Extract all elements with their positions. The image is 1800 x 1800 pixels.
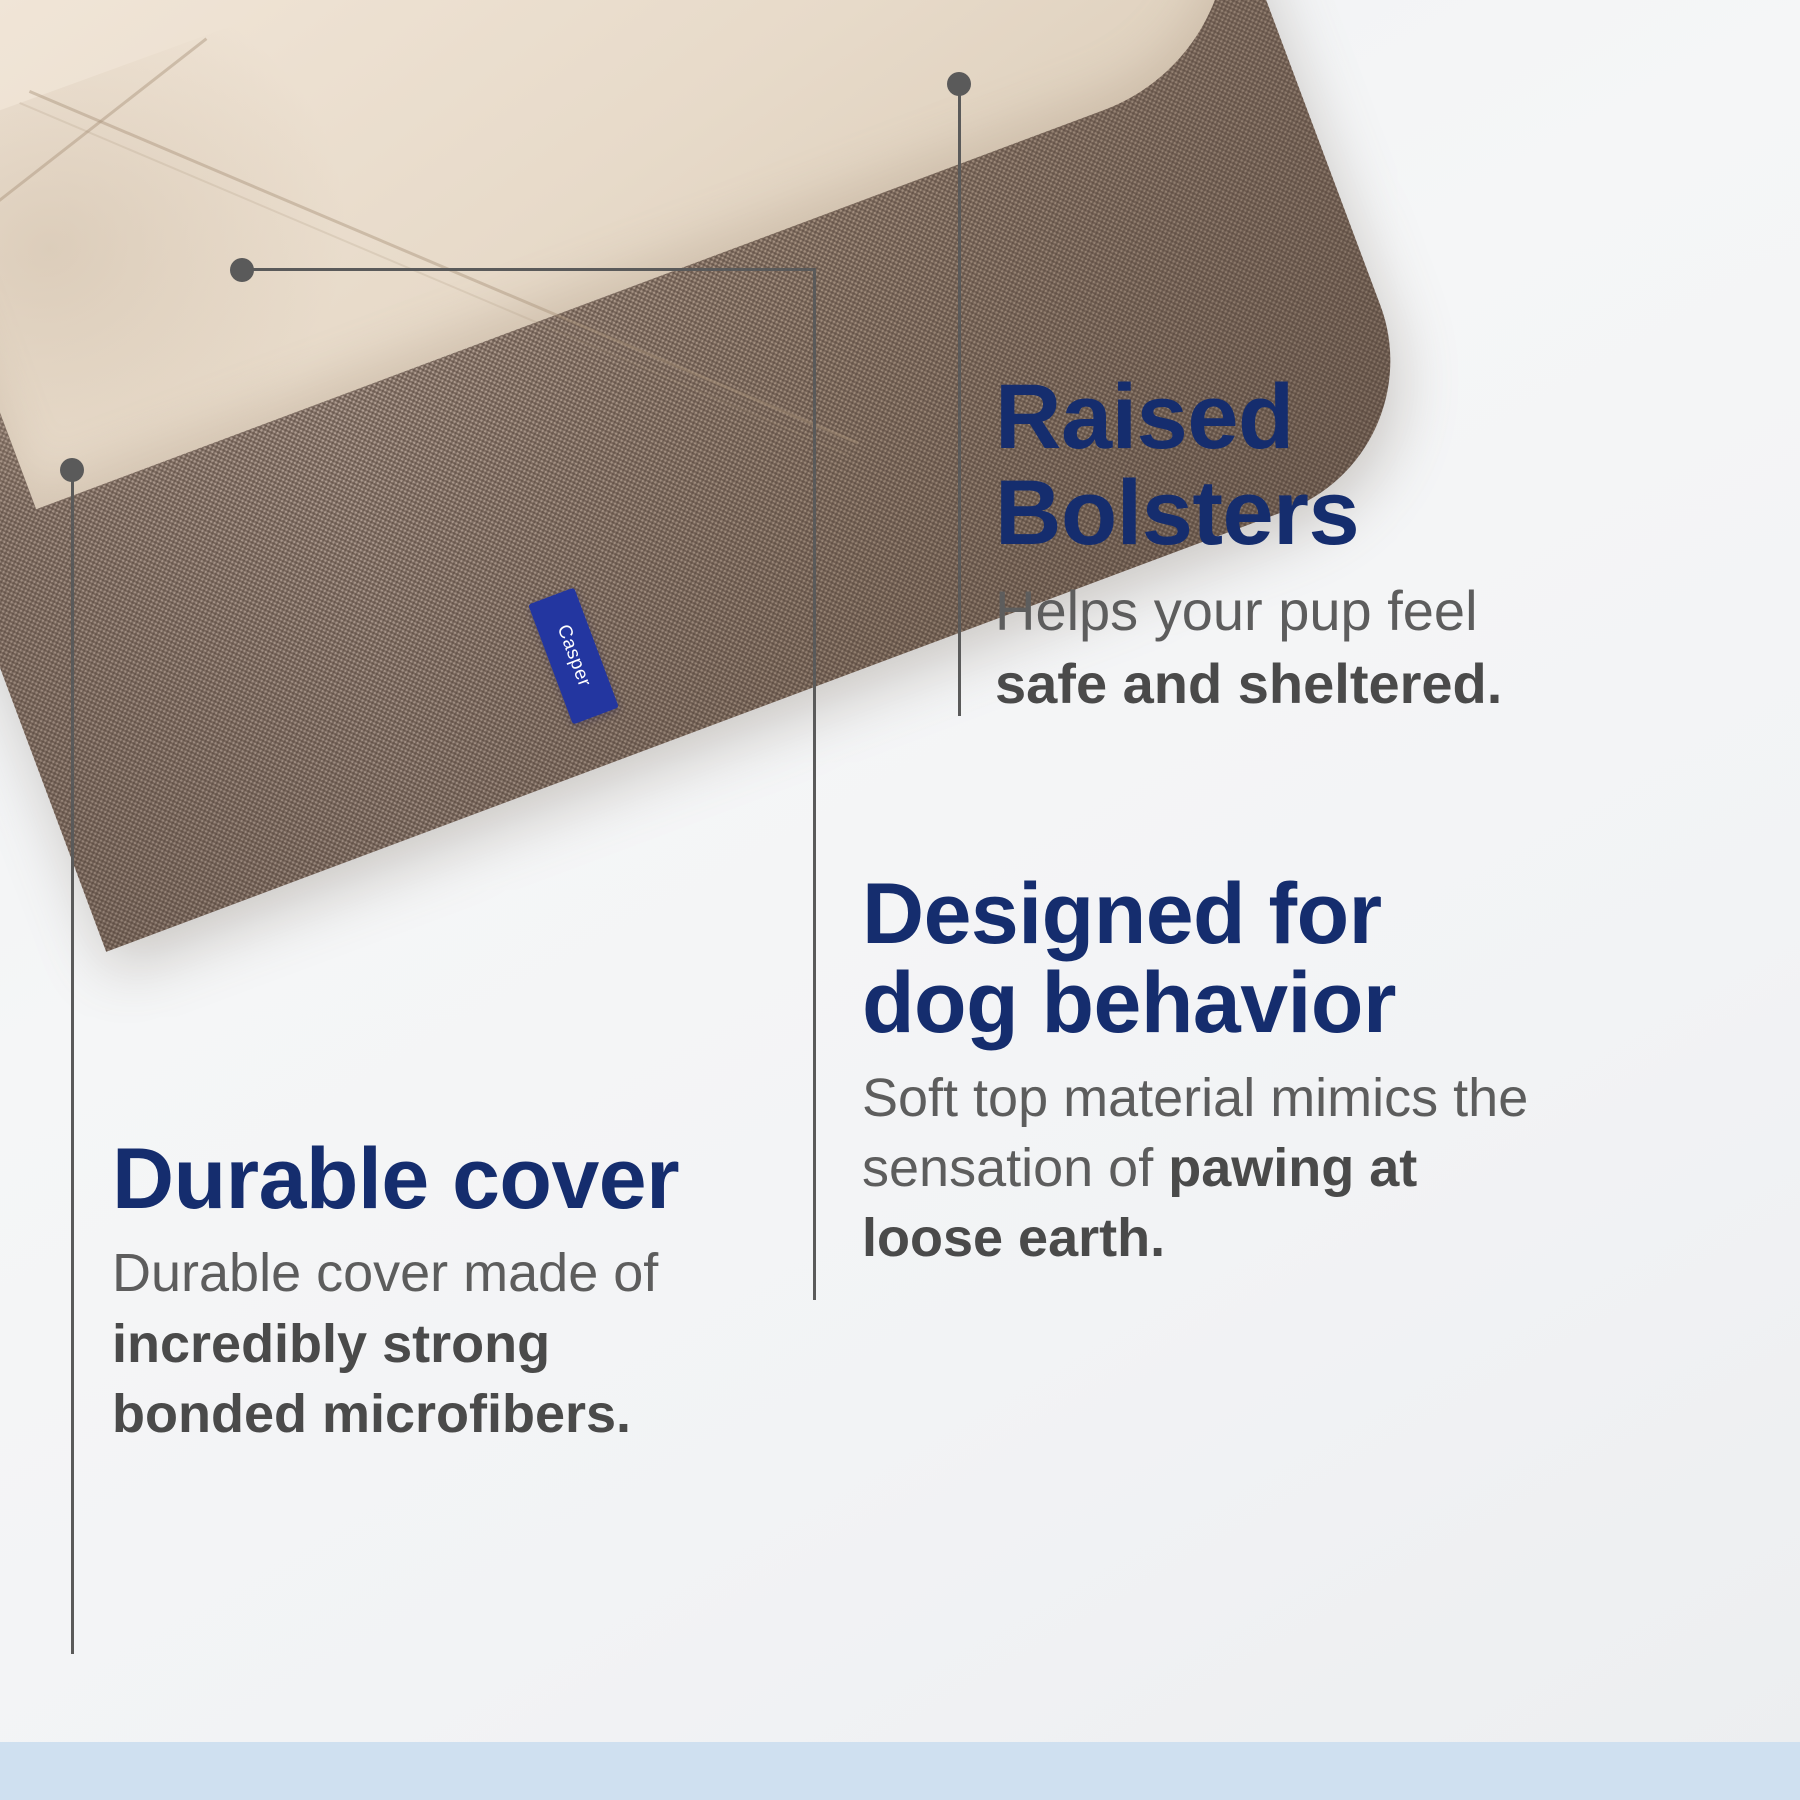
heading-line-1: Durable cover	[112, 1131, 679, 1227]
heading-line-2: dog behavior	[862, 955, 1396, 1051]
callout-body-dog-behavior: Soft top material mimics the sensation o…	[862, 1063, 1542, 1274]
callout-heading-raised-bolsters: Raised Bolsters	[995, 370, 1595, 561]
callout-body-durable-cover: Durable cover made of incredibly strong …	[112, 1238, 752, 1449]
body-bold-text: safe and sheltered.	[995, 652, 1502, 715]
callout-line-raised-bolsters	[958, 84, 961, 716]
callout-raised-bolsters: Raised Bolsters Helps your pup feel safe…	[995, 370, 1595, 721]
heading-line-2: Bolsters	[995, 462, 1359, 564]
bottom-accent-bar	[0, 1742, 1800, 1800]
callout-heading-dog-behavior: Designed for dog behavior	[862, 870, 1542, 1049]
heading-line-1: Designed for	[862, 866, 1382, 962]
callout-line-dog-behavior-horizontal	[242, 268, 816, 271]
infographic-canvas: Casper Raised Bolsters Helps your pup fe…	[0, 0, 1800, 1800]
brand-tag-label: Casper	[552, 622, 595, 690]
callout-line-dog-behavior-vertical	[813, 268, 816, 1300]
body-regular-text: Durable cover made of	[112, 1243, 658, 1303]
callout-line-durable-cover	[71, 470, 74, 1654]
callout-durable-cover: Durable cover Durable cover made of incr…	[112, 1135, 752, 1449]
body-bold-text: incredibly strong bonded microfibers.	[112, 1314, 631, 1444]
callout-designed-for-dog-behavior: Designed for dog behavior Soft top mater…	[862, 870, 1542, 1273]
body-regular-text: Helps your pup feel	[995, 579, 1478, 642]
callout-heading-durable-cover: Durable cover	[112, 1135, 752, 1224]
heading-line-1: Raised	[995, 366, 1294, 468]
callout-body-raised-bolsters: Helps your pup feel safe and sheltered.	[995, 575, 1595, 721]
